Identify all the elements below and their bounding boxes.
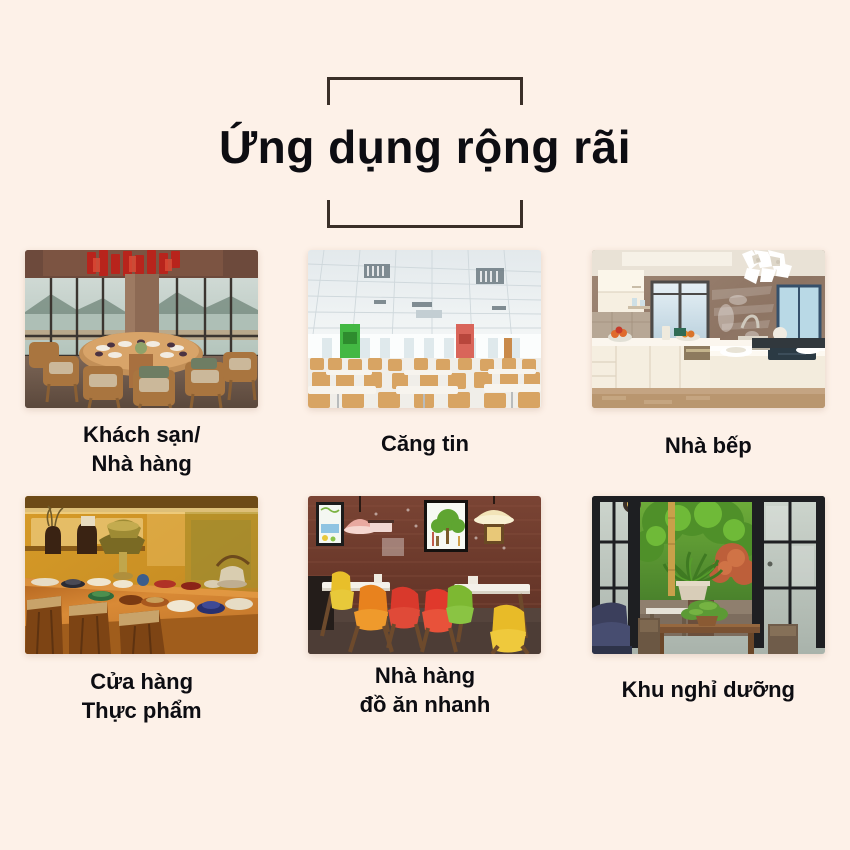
page-header: Ứng dụng rộng rãi — [0, 0, 850, 240]
scenario-card-hotel-restaurant[interactable]: Khách sạn/ Nhà hàng — [0, 250, 283, 478]
scenario-caption: Cửa hàng Thực phẩm — [82, 668, 202, 725]
scenario-card-resort[interactable]: Khu nghỉ dưỡng — [567, 496, 850, 725]
scenario-card-canteen[interactable]: Căng tin — [283, 250, 566, 478]
scenario-card-food-store[interactable]: Cửa hàng Thực phẩm — [0, 496, 283, 725]
kitchen-photo — [592, 250, 825, 408]
resort-photo — [592, 496, 825, 654]
scenario-caption: Nhà hàng đồ ăn nhanh — [360, 662, 491, 719]
bracket-bottom-decoration — [327, 200, 523, 228]
scenario-caption: Khu nghỉ dưỡng — [622, 676, 795, 705]
application-scenarios-grid: Khách sạn/ Nhà hàng — [0, 250, 850, 725]
bracket-top-decoration — [327, 77, 523, 105]
hotel-restaurant-photo — [25, 250, 258, 408]
canteen-photo — [308, 250, 541, 408]
scenario-caption: Khách sạn/ Nhà hàng — [83, 421, 200, 478]
fast-food-restaurant-photo — [308, 496, 541, 654]
scenario-card-fast-food-restaurant[interactable]: Nhà hàng đồ ăn nhanh — [283, 496, 566, 725]
scenario-caption: Căng tin — [381, 430, 469, 459]
food-store-photo — [25, 496, 258, 654]
scenario-card-kitchen[interactable]: Nhà bếp — [567, 250, 850, 478]
page-title: Ứng dụng rộng rãi — [0, 121, 850, 174]
scenario-caption: Nhà bếp — [665, 432, 752, 461]
